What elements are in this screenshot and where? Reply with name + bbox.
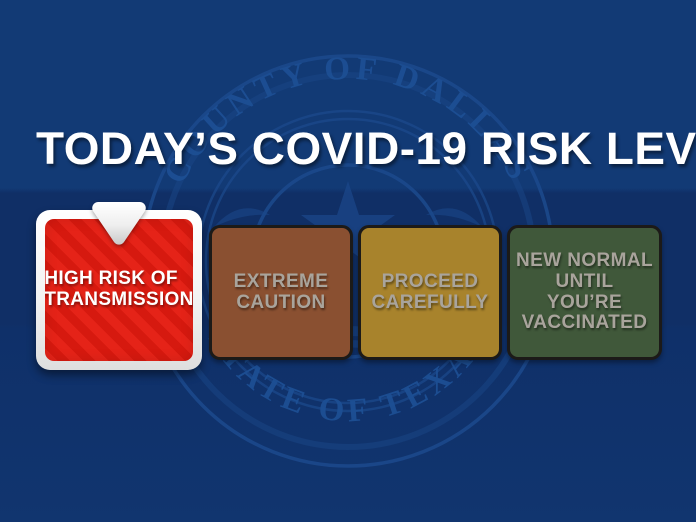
risk-level-card-proceed-carefully[interactable]: PROCEED CAREFULLY: [358, 225, 502, 360]
risk-level-label-line2: TRANSMISSION: [45, 289, 193, 310]
risk-level-label-line1: PROCEED: [382, 271, 479, 292]
risk-level-label-line2: UNTIL YOU’RE: [547, 271, 622, 313]
page-title: TODAY’S COVID-19 RISK LEVEL: [36, 126, 689, 171]
risk-level-label: EXTREME CAUTION: [228, 272, 335, 313]
risk-level-label: NEW NORMAL UNTIL YOU’RE VACCINATED: [510, 251, 659, 333]
risk-level-label-line2: CAREFULLY: [372, 292, 489, 313]
risk-level-card-active[interactable]: HIGH RISK OF TRANSMISSION: [36, 210, 202, 370]
risk-level-label-line1: HIGH RISK OF: [45, 268, 178, 289]
risk-level-label-line2: CAUTION: [236, 292, 325, 313]
risk-level-label: HIGH RISK OF TRANSMISSION: [45, 269, 193, 310]
risk-level-label-line1: NEW NORMAL: [516, 250, 653, 271]
risk-level-card-new-normal[interactable]: NEW NORMAL UNTIL YOU’RE VACCINATED: [507, 225, 662, 360]
risk-level-label-line3: VACCINATED: [522, 312, 648, 333]
risk-level-card-extreme-caution[interactable]: EXTREME CAUTION: [209, 225, 353, 360]
risk-scale: HIGH RISK OF TRANSMISSION EXTREME CAUTIO…: [36, 205, 662, 370]
current-level-pointer-icon: [91, 198, 147, 246]
risk-level-graphic: COUNTY OF DALLAS STATE OF TEXAS TODAY’S …: [0, 0, 696, 522]
risk-level-label-line1: EXTREME: [234, 271, 329, 292]
risk-level-label: PROCEED CAREFULLY: [366, 272, 495, 313]
